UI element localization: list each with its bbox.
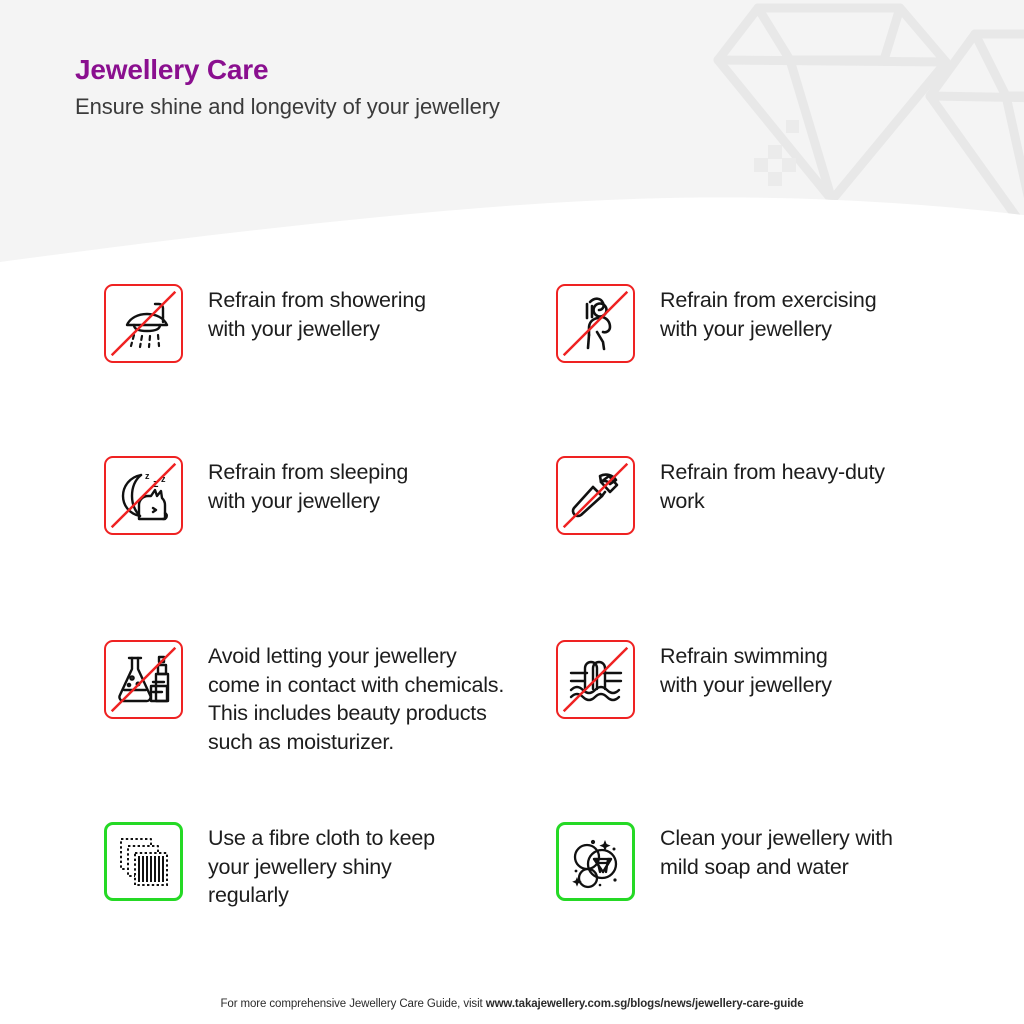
care-item-clean-soap: Clean your jewellery with mild soap and …	[556, 822, 893, 901]
swimming-pool-icon	[556, 640, 635, 719]
sleeping-moon-cat-icon: z z z	[104, 456, 183, 535]
hammer-icon	[556, 456, 635, 535]
care-item-label: Refrain from sleeping with your jeweller…	[208, 456, 408, 515]
care-item-fibre-cloth: Use a fibre cloth to keep your jewellery…	[104, 822, 435, 910]
footer-url-link[interactable]: www.takajewellery.com.sg/blogs/news/jewe…	[486, 998, 804, 1010]
care-item-label: Clean your jewellery with mild soap and …	[660, 822, 893, 881]
svg-text:z: z	[145, 471, 150, 481]
shower-icon	[104, 284, 183, 363]
care-item-chemicals: Avoid letting your jewellery come in con…	[104, 640, 504, 756]
page-title: Jewellery Care	[75, 55, 500, 86]
care-item-exercising: Refrain from exercising with your jewell…	[556, 284, 876, 363]
care-item-label: Use a fibre cloth to keep your jewellery…	[208, 822, 435, 910]
footer-note: For more comprehensive Jewellery Care Gu…	[0, 998, 1024, 1010]
care-item-label: Refrain from showering with your jewelle…	[208, 284, 426, 343]
care-item-label: Refrain from exercising with your jewell…	[660, 284, 876, 343]
care-item-label: Avoid letting your jewellery come in con…	[208, 640, 504, 756]
soap-bubbles-diamond-icon	[556, 822, 635, 901]
header-background	[0, 0, 1024, 280]
header-band: Jewellery Care Ensure shine and longevit…	[0, 0, 1024, 280]
care-item-swimming: Refrain swimming with your jewellery	[556, 640, 832, 719]
exercise-person-icon	[556, 284, 635, 363]
page-subtitle: Ensure shine and longevity of your jewel…	[75, 94, 500, 120]
footer-lead-text: For more comprehensive Jewellery Care Gu…	[220, 998, 485, 1010]
care-item-label: Refrain from heavy-duty work	[660, 456, 885, 515]
header-text-block: Jewellery Care Ensure shine and longevit…	[75, 55, 500, 120]
care-item-label: Refrain swimming with your jewellery	[660, 640, 832, 699]
care-item-showering: Refrain from showering with your jewelle…	[104, 284, 426, 363]
svg-text:z: z	[161, 474, 166, 484]
infographic-page: Jewellery Care Ensure shine and longevit…	[0, 0, 1024, 1024]
care-item-sleeping: z z z Refrain from sleeping with your je…	[104, 456, 408, 535]
care-item-heavy-duty: Refrain from heavy-duty work	[556, 456, 885, 535]
svg-text:z: z	[153, 478, 159, 490]
fibre-cloth-icon	[104, 822, 183, 901]
chemicals-flask-icon	[104, 640, 183, 719]
